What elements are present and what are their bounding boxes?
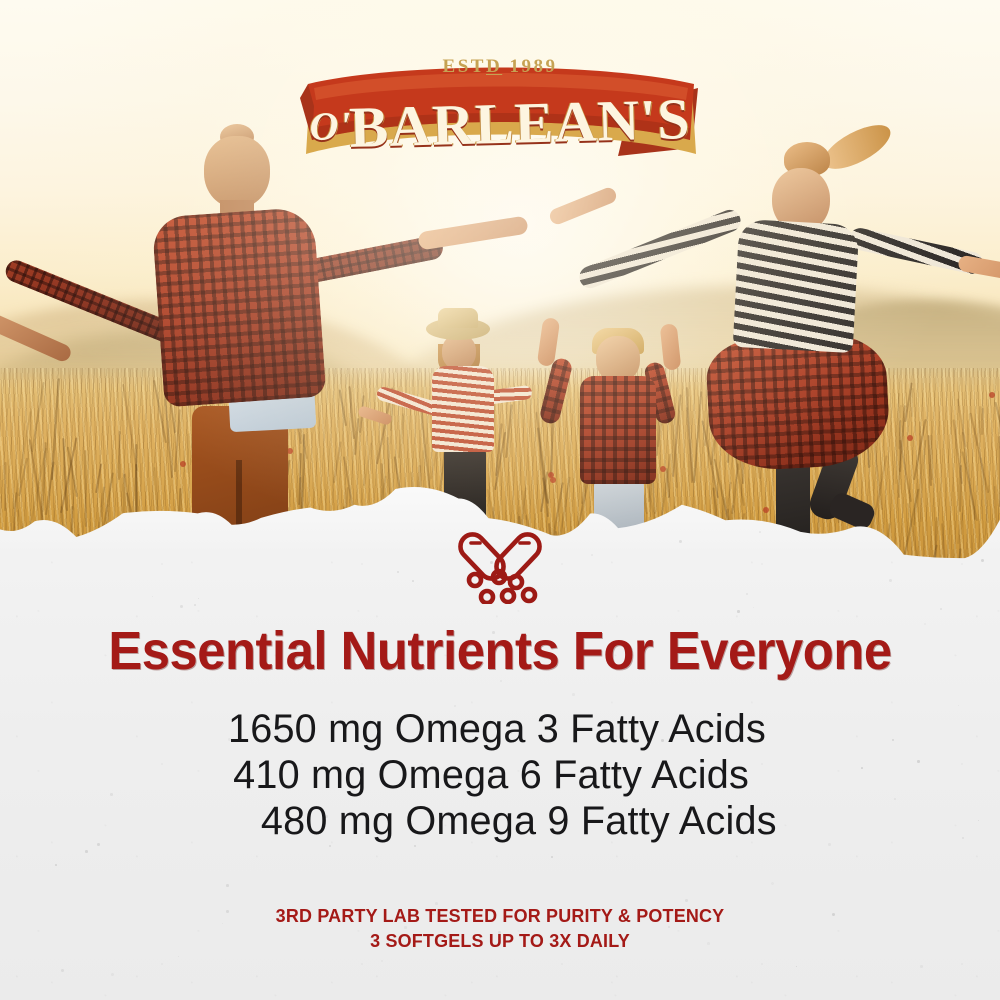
paper-speck	[771, 882, 774, 885]
capsules-and-pellets-icon	[454, 528, 546, 604]
paper-speck	[178, 956, 179, 957]
estd-prefix: ESTD 1989	[443, 56, 558, 77]
mother-right-hand	[957, 255, 1000, 286]
paper-speck	[685, 899, 688, 902]
paper-speck	[414, 845, 416, 847]
claim-omega-6: 410 mg Omega 6 Fatty Acids	[5, 752, 995, 798]
father-plaid-shirt	[152, 207, 327, 408]
footnote-line-2: 3 SOFTGELS UP TO 3X DAILY	[15, 928, 985, 953]
paper-speck	[55, 864, 57, 866]
paper-speck	[180, 605, 183, 608]
paper-speck	[381, 960, 383, 962]
girl-straw-hat-crown	[438, 308, 478, 328]
mother-plaid-skirt	[705, 331, 892, 472]
paper-speck	[920, 965, 923, 968]
wheat-blade	[31, 382, 44, 452]
paper-speck	[226, 884, 229, 887]
logo-established-text: ESTD 1989	[300, 56, 700, 78]
paper-speck	[796, 966, 797, 967]
paper-speck	[753, 607, 754, 608]
logo-wordmark: O'BARLEAN'S	[299, 85, 701, 162]
headline: Essential Nutrients For Everyone	[30, 624, 970, 678]
paper-speck	[85, 850, 88, 853]
boy-plaid-shirt	[580, 376, 656, 484]
paper-speck	[940, 608, 942, 610]
paper-speck	[194, 604, 196, 606]
logo-wordmark-prefix: O'	[309, 103, 352, 149]
girl-striped-shirt	[432, 366, 494, 452]
mother-striped-top	[733, 219, 860, 353]
wheat-blade	[51, 378, 60, 480]
father-head	[204, 136, 270, 208]
product-marketing-panel: ESTD 1989 O'BARLEAN'S	[0, 0, 1000, 1000]
paper-speck	[551, 856, 553, 858]
claim-omega-9: 480 mg Omega 9 Fatty Acids	[5, 798, 995, 844]
barleans-logo: ESTD 1989 O'BARLEAN'S	[300, 44, 700, 184]
paper-speck	[572, 693, 575, 696]
paper-speck	[737, 610, 740, 613]
claims-list: 1650 mg Omega 3 Fatty Acids 410 mg Omega…	[0, 706, 1000, 844]
logo-wordmark-text: BARLEAN'S	[349, 86, 692, 160]
icon-row	[0, 528, 1000, 604]
paper-speck	[111, 973, 114, 976]
footnote: 3RD PARTY LAB TESTED FOR PURITY & POTENC…	[15, 903, 985, 953]
footnote-line-1: 3RD PARTY LAB TESTED FOR PURITY & POTENC…	[15, 903, 985, 928]
paper-speck	[61, 969, 64, 972]
boy-left-sleeve	[538, 357, 573, 426]
claim-omega-3: 1650 mg Omega 3 Fatty Acids	[5, 706, 995, 752]
paper-speck	[329, 845, 331, 847]
